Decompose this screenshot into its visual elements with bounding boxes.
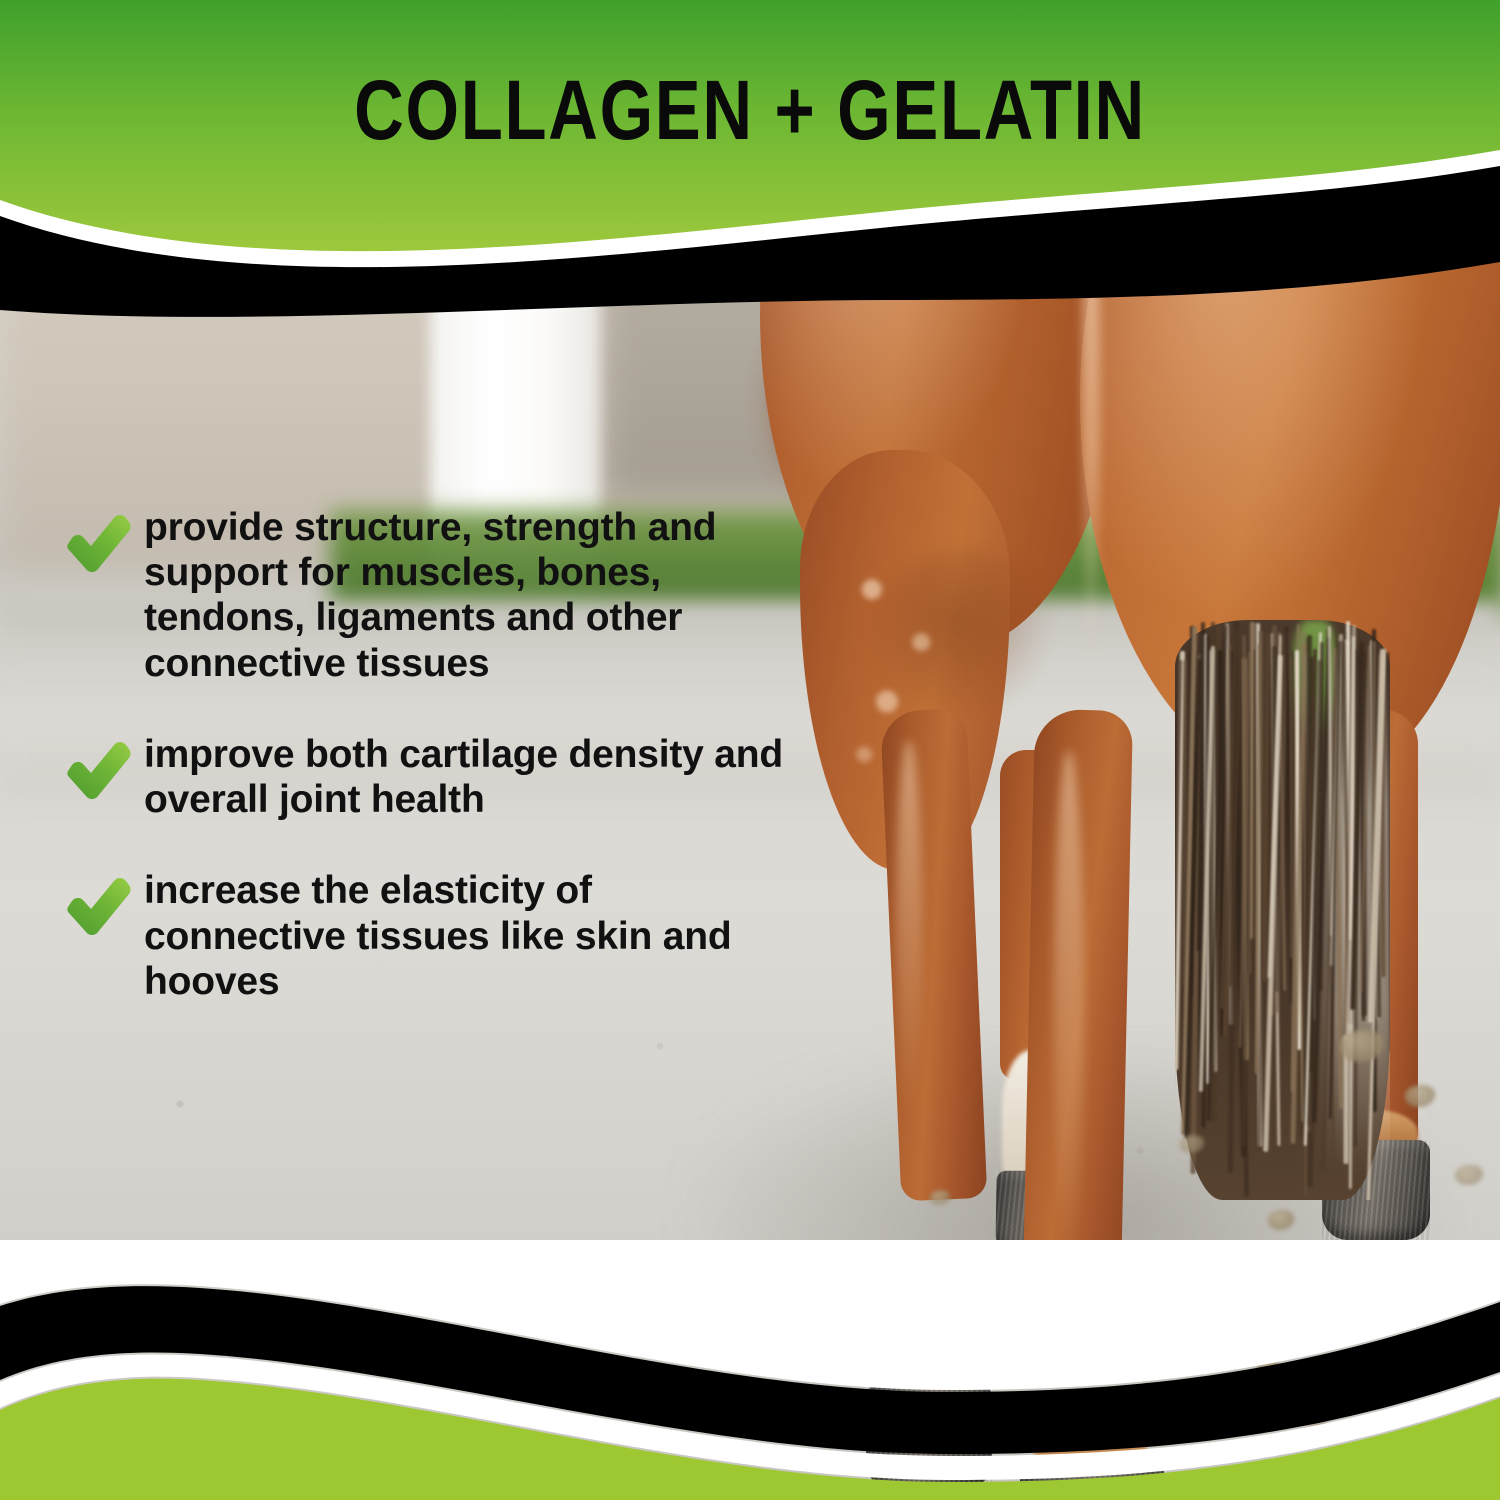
list-item-label: increase the elasticity of connective ti… (144, 868, 784, 1004)
page-title: COLLAGEN + GELATIN (135, 68, 1365, 152)
list-item: provide structure, strength and support … (62, 505, 822, 686)
benefits-list: provide structure, strength and support … (62, 505, 822, 1004)
check-icon-glyph (62, 513, 134, 575)
list-item-label: provide structure, strength and support … (144, 505, 784, 686)
check-icon-glyph (62, 740, 134, 802)
check-icon (62, 876, 134, 938)
check-icon (62, 513, 134, 575)
horse-haunch-seam (1082, 150, 1100, 670)
product-feature-card: COLLAGEN + GELATIN (0, 0, 1500, 1500)
list-item: improve both cartilage density and overa… (62, 732, 822, 822)
list-item: increase the elasticity of connective ti… (62, 868, 822, 1004)
list-item-label: improve both cartilage density and overa… (144, 732, 784, 822)
check-icon-glyph (62, 876, 134, 938)
check-icon (62, 740, 134, 802)
